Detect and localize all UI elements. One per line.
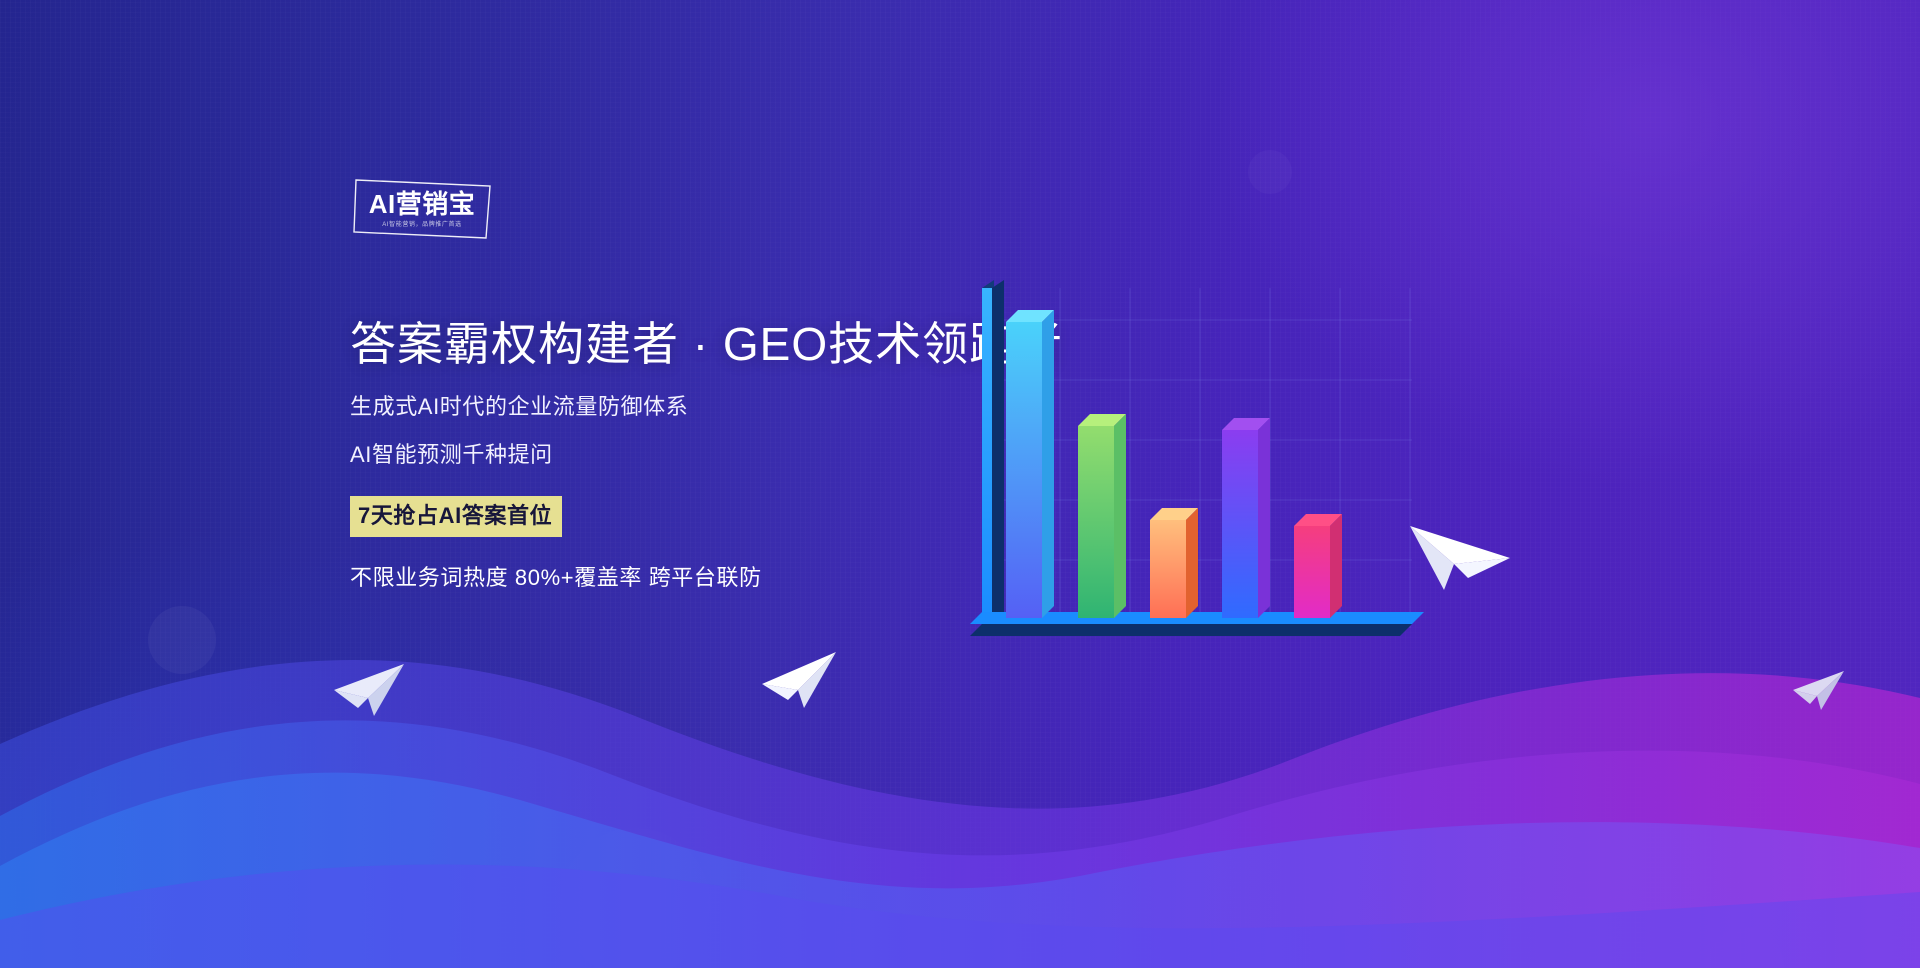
- paper-plane-icon: [1790, 668, 1846, 712]
- background-glow-bottom-left: [0, 528, 620, 968]
- hero-banner: AI营销宝 AI智能营销，品牌推广首选 答案霸权构建者 · GEO技术领跑者 生…: [0, 0, 1920, 968]
- hero-subtitle-1: 生成式AI时代的企业流量防御体系: [350, 396, 1050, 418]
- hero-highlight-badge: 7天抢占AI答案首位: [350, 496, 562, 537]
- logo-tagline: AI智能营销，品牌推广首选: [382, 222, 461, 228]
- hero-metrics: 不限业务词热度 80%+覆盖率 跨平台联防: [350, 567, 1050, 589]
- hero-subtitle-2: AI智能预测千种提问: [350, 444, 1050, 466]
- chart-bar-5: [1294, 514, 1342, 618]
- hero-copy: 答案霸权构建者 · GEO技术领跑者 生成式AI时代的企业流量防御体系 AI智能…: [350, 318, 1050, 589]
- paper-plane-icon: [758, 648, 838, 710]
- hero-highlight-row: 7天抢占AI答案首位: [350, 496, 1050, 537]
- chart-bar-4: [1222, 418, 1270, 618]
- decor-circle: [1706, 928, 1784, 968]
- paper-plane-icon: [330, 660, 406, 718]
- chart-y-axis: [982, 280, 1004, 624]
- decor-circle: [560, 828, 710, 968]
- chart-bar-1: [1006, 310, 1054, 618]
- bar-chart: [960, 280, 1430, 680]
- chart-gridlines: [996, 288, 1412, 628]
- decor-circle: [1248, 150, 1292, 194]
- page-title: 答案霸权构建者 · GEO技术领跑者: [350, 318, 1050, 370]
- chart-bar-2: [1078, 414, 1126, 618]
- brand-logo[interactable]: AI营销宝 AI智能营销，品牌推广首选: [352, 178, 492, 240]
- decor-circle: [148, 606, 216, 674]
- logo-wordmark: AI营销宝: [369, 191, 476, 217]
- chart-bar-3: [1150, 508, 1198, 618]
